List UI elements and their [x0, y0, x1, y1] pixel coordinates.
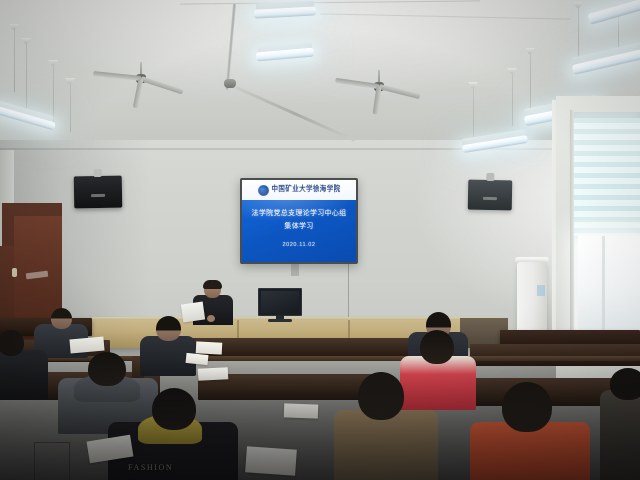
- conduit-junction-box: [224, 79, 236, 88]
- wall-speaker-left: [74, 176, 123, 209]
- speaker-badge: [91, 193, 105, 196]
- document-on-desk: [196, 341, 223, 354]
- lecture-hall-photo: 中国矿业大学徐海学院 法学院党总支理论学习中心组 集体学习 2020.11.02: [0, 0, 640, 480]
- attendee-head: [420, 330, 454, 364]
- attendee-head: [156, 316, 181, 341]
- attendee-head: [610, 368, 640, 400]
- document-on-desk: [69, 337, 104, 354]
- wall-mounted-tv-screen[interactable]: 中国矿业大学徐海学院 法学院党总支理论学习中心组 集体学习 2020.11.02: [240, 178, 358, 264]
- presenter-at-desk: [190, 281, 236, 323]
- attendee-head: [358, 372, 404, 420]
- speaker-bracket: [486, 173, 494, 181]
- window-blind-highlight: [574, 118, 640, 236]
- window-frame: [570, 110, 574, 346]
- door-handle[interactable]: [12, 268, 17, 277]
- window-mullion: [602, 236, 605, 340]
- tv-wall-mount: [291, 262, 299, 276]
- desktop-monitor[interactable]: [258, 288, 302, 316]
- slide-title-line-2: 集体学习: [284, 222, 313, 232]
- light-hanger-rod: [70, 84, 71, 132]
- jacket-brand-label: FASHION: [128, 463, 173, 472]
- speaker-bracket: [94, 169, 102, 177]
- presenter-document: [181, 302, 205, 323]
- presenter-hair: [203, 280, 222, 289]
- light-hanger-rod: [512, 74, 513, 126]
- wall-speaker-right: [468, 180, 513, 211]
- university-emblem-icon: [258, 185, 269, 196]
- monitor-base: [268, 319, 292, 322]
- light-hanger-rod: [578, 8, 579, 60]
- attendee-torso: [0, 350, 48, 400]
- light-hanger-rod: [14, 30, 15, 92]
- document-on-desk: [186, 353, 209, 365]
- presentation-slide: 中国矿业大学徐海学院 法学院党总支理论学习中心组 集体学习 2020.11.02: [242, 180, 356, 262]
- slide-header-band: 中国矿业大学徐海学院: [242, 180, 356, 200]
- speaker-badge: [483, 196, 497, 199]
- window-glass-bright: [578, 236, 640, 340]
- attendee-head: [0, 330, 24, 356]
- document-on-desk: [245, 446, 297, 475]
- attendee-torso: [334, 410, 438, 480]
- slide-university-name: 中国矿业大学徐海学院: [272, 185, 341, 194]
- bench-row-2-right: [470, 344, 640, 366]
- attendee-head: [88, 352, 126, 386]
- attendee-head: [502, 382, 552, 432]
- document-on-desk: [198, 367, 229, 381]
- slide-title-line-1: 法学院党总支理论学习中心组: [252, 209, 347, 219]
- monitor-screen: [261, 291, 299, 313]
- attendee-torso: [600, 390, 640, 480]
- slide-body: 法学院党总支理论学习中心组 集体学习 2020.11.02: [242, 200, 356, 262]
- attendee-head: [51, 308, 72, 329]
- attendee-head: [152, 388, 196, 430]
- light-hanger-rod: [53, 66, 54, 124]
- document-on-desk: [284, 403, 318, 418]
- light-hanger-rod: [530, 54, 531, 108]
- ac-label-sticker: [537, 285, 545, 296]
- slide-date: 2020.11.02: [242, 242, 356, 248]
- presenter-hand: [207, 315, 215, 322]
- door-panel-inset: [34, 442, 70, 480]
- light-hanger-rod: [26, 44, 27, 118]
- tv-cable: [348, 262, 349, 324]
- light-hanger-rod: [473, 88, 474, 140]
